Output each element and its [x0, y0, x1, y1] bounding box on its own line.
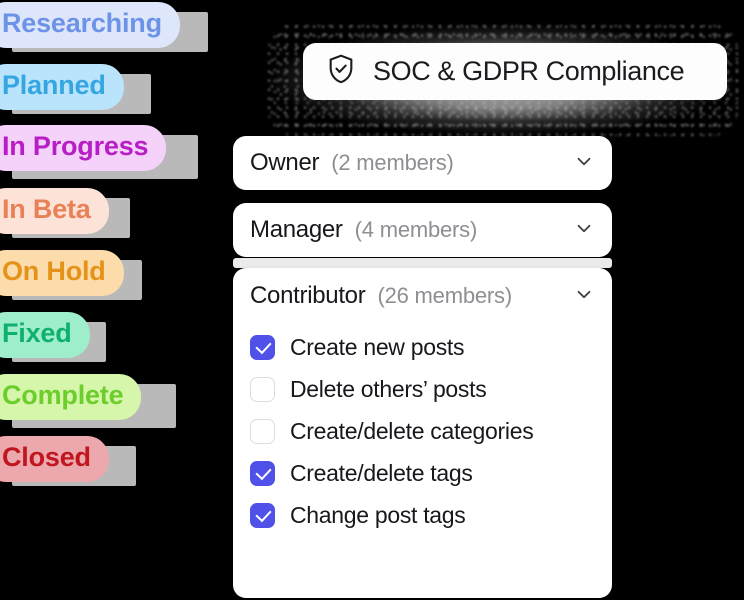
checkbox-checked-icon[interactable] [250, 335, 275, 360]
permission-row[interactable]: Create/delete categories [250, 410, 612, 452]
role-member-count-manager: (4 members) [355, 217, 478, 243]
role-member-count-owner: (2 members) [331, 150, 454, 176]
card-stack-divider [233, 258, 612, 268]
role-member-count-contributor: (26 members) [377, 283, 512, 309]
status-tag-complete[interactable]: Complete [0, 374, 141, 420]
checkbox-unchecked-icon[interactable] [250, 419, 275, 444]
status-tag-researching[interactable]: Researching [0, 2, 180, 48]
screenshot-root: ResearchingPlannedIn ProgressIn BetaOn H… [0, 0, 744, 600]
status-tag-label: Researching [0, 2, 180, 48]
role-card-manager[interactable]: Manager (4 members) [233, 203, 612, 257]
status-tag-closed[interactable]: Closed [0, 436, 109, 482]
status-tag-list: ResearchingPlannedIn ProgressIn BetaOn H… [0, 0, 240, 600]
role-card-owner[interactable]: Owner (2 members) [233, 136, 612, 190]
shield-check-icon [326, 53, 356, 90]
permission-row[interactable]: Change post tags [250, 494, 612, 536]
role-name-contributor: Contributor [250, 282, 365, 310]
status-tag-label: Closed [0, 436, 109, 482]
chevron-down-icon[interactable] [573, 150, 595, 177]
role-card-contributor[interactable]: Contributor (26 members) Create new post… [233, 268, 612, 598]
role-name-manager: Manager [250, 216, 343, 244]
permission-label: Create/delete categories [290, 418, 533, 445]
role-header-owner[interactable]: Owner (2 members) [233, 136, 612, 190]
status-tag-planned[interactable]: Planned [0, 64, 124, 110]
role-header-manager[interactable]: Manager (4 members) [233, 203, 612, 257]
checkbox-unchecked-icon[interactable] [250, 377, 275, 402]
status-tag-label: On Hold [0, 250, 124, 296]
soc-gdpr-compliance-badge[interactable]: SOC & GDPR Compliance [303, 43, 727, 100]
permission-checkbox-list: Create new postsDelete others’ postsCrea… [233, 324, 612, 536]
permission-label: Create/delete tags [290, 460, 473, 487]
permission-row[interactable]: Create/delete tags [250, 452, 612, 494]
permission-label: Create new posts [290, 334, 464, 361]
checkbox-checked-icon[interactable] [250, 461, 275, 486]
soc-gdpr-compliance-label: SOC & GDPR Compliance [373, 56, 684, 87]
checkbox-checked-icon[interactable] [250, 503, 275, 528]
permission-row[interactable]: Create new posts [250, 326, 612, 368]
permission-label: Change post tags [290, 502, 466, 529]
role-name-owner: Owner [250, 149, 319, 177]
status-tag-label: In Beta [0, 188, 109, 234]
status-tag-on-hold[interactable]: On Hold [0, 250, 124, 296]
chevron-down-icon[interactable] [573, 283, 595, 310]
role-header-contributor[interactable]: Contributor (26 members) [233, 268, 612, 324]
status-tag-label: Planned [0, 64, 124, 110]
permission-row[interactable]: Delete others’ posts [250, 368, 612, 410]
status-tag-fixed[interactable]: Fixed [0, 312, 90, 358]
permission-label: Delete others’ posts [290, 376, 486, 403]
status-tag-in-beta[interactable]: In Beta [0, 188, 109, 234]
status-tag-in-progress[interactable]: In Progress [0, 125, 166, 171]
chevron-down-icon[interactable] [573, 217, 595, 244]
status-tag-label: Fixed [0, 312, 90, 358]
status-tag-label: Complete [0, 374, 141, 420]
status-tag-label: In Progress [0, 125, 166, 171]
